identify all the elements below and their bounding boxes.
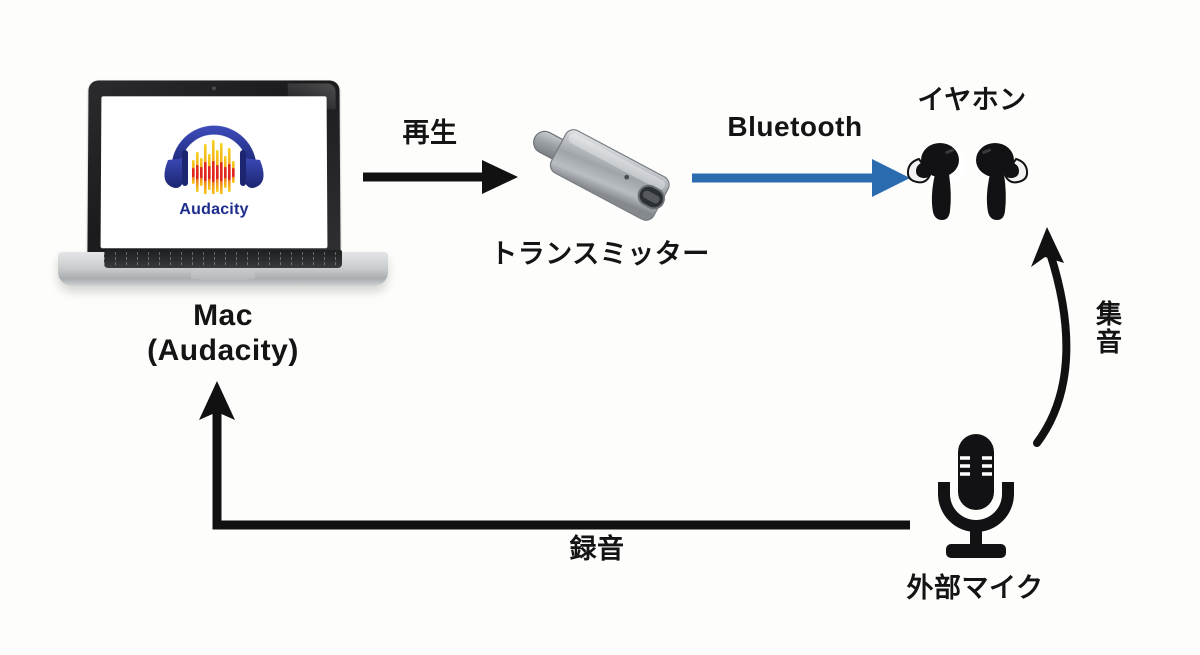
pickup-arrow-label: 集音 xyxy=(1094,300,1121,356)
earphones-label: イヤホン xyxy=(917,86,1026,114)
playback-arrow-label: 再生 xyxy=(403,119,458,147)
transmitter-device xyxy=(512,120,692,235)
laptop-mac: Audacity xyxy=(58,80,388,300)
microphone-device xyxy=(918,432,1034,564)
transmitter-label: トランスミッター xyxy=(490,240,709,268)
audacity-wordmark: Audacity xyxy=(149,201,279,219)
bluetooth-arrow-label: Bluetooth xyxy=(727,112,862,141)
webcam-icon xyxy=(212,86,216,90)
playback-arrow xyxy=(358,150,523,210)
laptop-lid: Audacity xyxy=(87,80,340,258)
audacity-logo: Audacity xyxy=(149,116,279,219)
laptop-screen: Audacity xyxy=(101,96,328,248)
bluetooth-arrow xyxy=(688,152,914,204)
record-arrow-label: 録音 xyxy=(570,535,625,563)
laptop-label-line2: (Audacity) xyxy=(147,335,299,367)
diagram-canvas: Audacity Mac (Audacity) 再生 xyxy=(0,0,1200,655)
audacity-logo-icon xyxy=(154,116,274,194)
laptop-label-line1: Mac xyxy=(193,300,253,332)
pickup-arrow xyxy=(1015,215,1095,450)
laptop-trackpad xyxy=(191,270,255,279)
earphones-device xyxy=(905,128,1040,228)
laptop-keyboard xyxy=(104,250,342,268)
microphone-label: 外部マイク xyxy=(907,574,1044,602)
record-arrow xyxy=(195,378,925,538)
